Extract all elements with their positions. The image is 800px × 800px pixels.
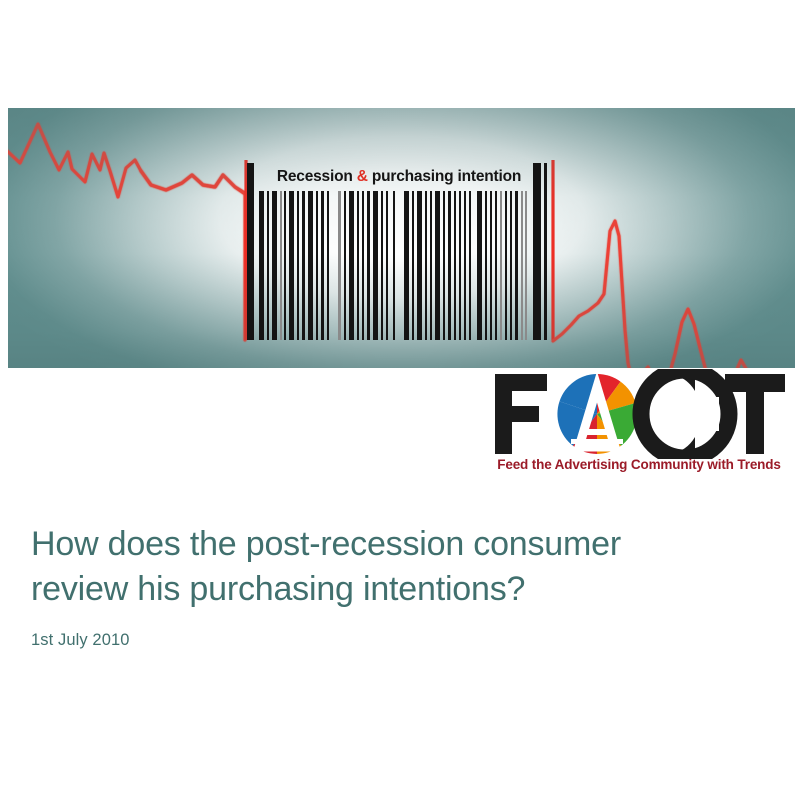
slide-date: 1st July 2010 [31, 631, 771, 650]
fact-logo-letter-a [557, 374, 637, 454]
fact-logo-tagline: Feed the Advertising Community with Tren… [489, 457, 789, 472]
fact-logo: Feed the Advertising Community with Tren… [489, 369, 789, 477]
fact-logo-letter-c [633, 370, 729, 458]
fact-logo-letter-f [495, 374, 547, 454]
recession-banner-image: Recession & purchasing intention [8, 108, 795, 368]
page-title: How does the post-recession consumer rev… [31, 522, 771, 612]
page-title-line-2: review his purchasing intentions? [31, 570, 525, 608]
title-block: How does the post-recession consumer rev… [31, 522, 771, 650]
barcode-title-ampersand: & [357, 168, 368, 185]
barcode-graphic: Recession & purchasing intention [245, 163, 553, 340]
page-title-line-1: How does the post-recession consumer [31, 525, 621, 563]
barcode-title: Recession & purchasing intention [245, 163, 553, 190]
barcode-title-part-2: purchasing intention [368, 168, 521, 185]
slide-canvas: Recession & purchasing intention [0, 0, 800, 800]
barcode-title-part-1: Recession [277, 168, 357, 185]
fact-logo-mark [489, 369, 789, 459]
